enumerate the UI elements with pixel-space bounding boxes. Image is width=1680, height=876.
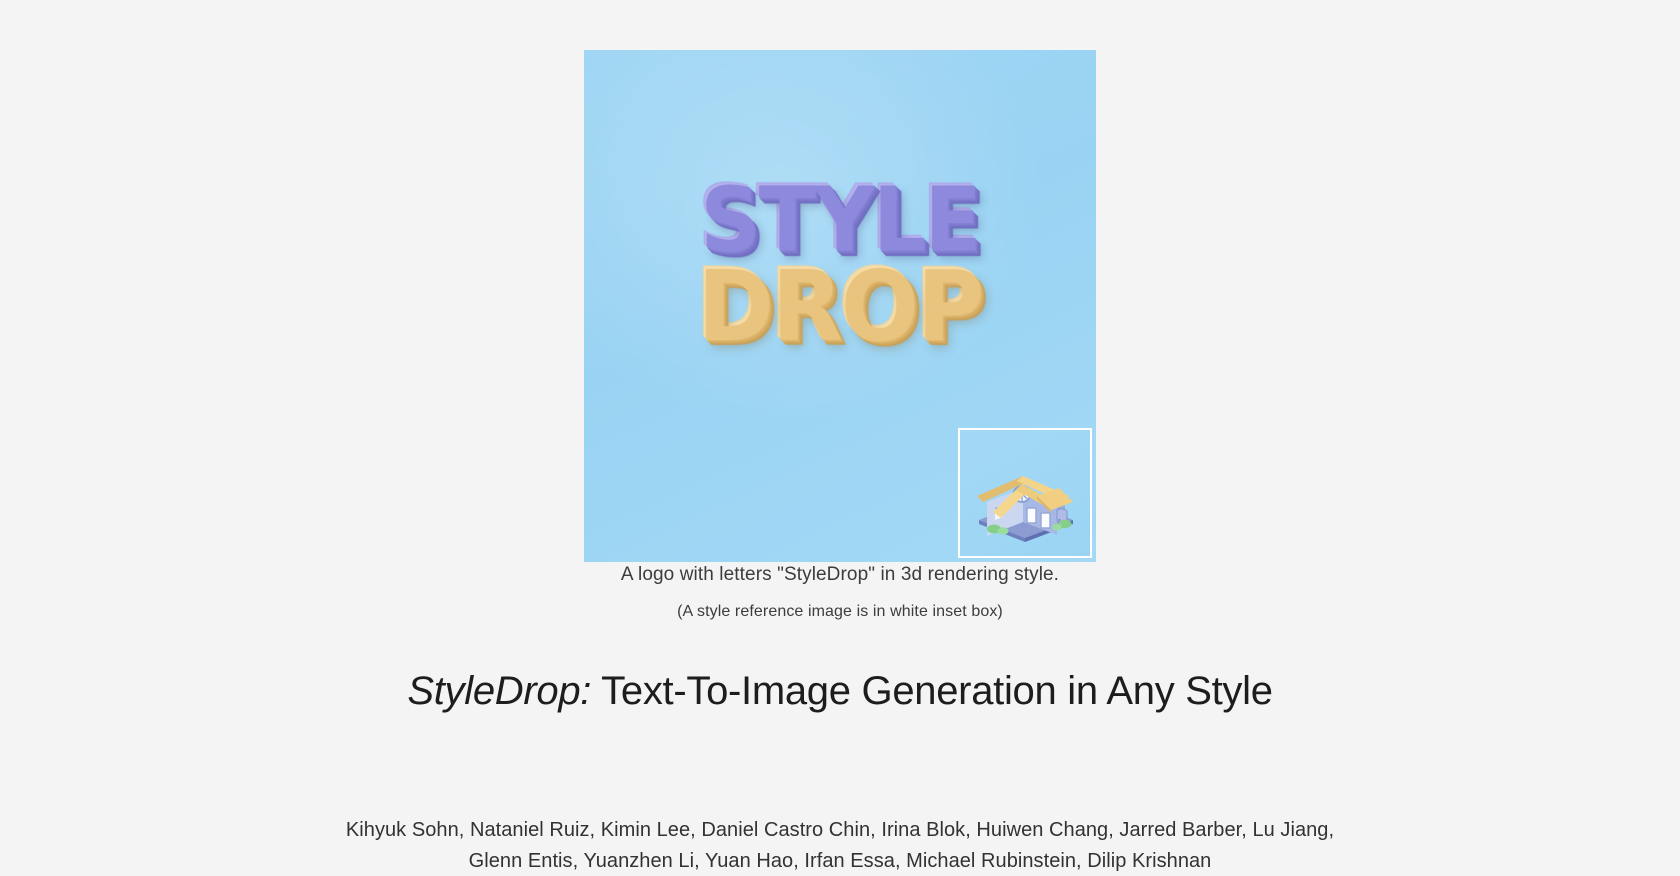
teaser-image: STYLE DROP xyxy=(584,50,1096,562)
teaser-figure: STYLE DROP xyxy=(584,50,1096,550)
page-title-name: StyleDrop: xyxy=(407,669,591,713)
style-reference-inset-box xyxy=(958,428,1092,558)
teaser-caption-primary: A logo with letters "StyleDrop" in 3d re… xyxy=(621,564,1059,586)
author-list: Kihyuk Sohn, Nataniel Ruiz, Kimin Lee, D… xyxy=(310,815,1370,876)
page-title-subtitle: Text-To-Image Generation in Any Style xyxy=(591,669,1273,713)
page-root: STYLE DROP xyxy=(0,0,1680,876)
page-title: StyleDrop: Text-To-Image Generation in A… xyxy=(407,669,1272,714)
house-3d-icon xyxy=(973,450,1077,542)
teaser-caption-secondary: (A style reference image is in white ins… xyxy=(677,603,1003,621)
author-line-1: Kihyuk Sohn, Nataniel Ruiz, Kimin Lee, D… xyxy=(310,815,1370,845)
author-line-2: Glenn Entis, Yuanzhen Li, Yuan Hao, Irfa… xyxy=(310,846,1370,876)
styledrop-logo: STYLE DROP xyxy=(584,182,1096,350)
logo-text-drop: DROP xyxy=(698,263,983,353)
